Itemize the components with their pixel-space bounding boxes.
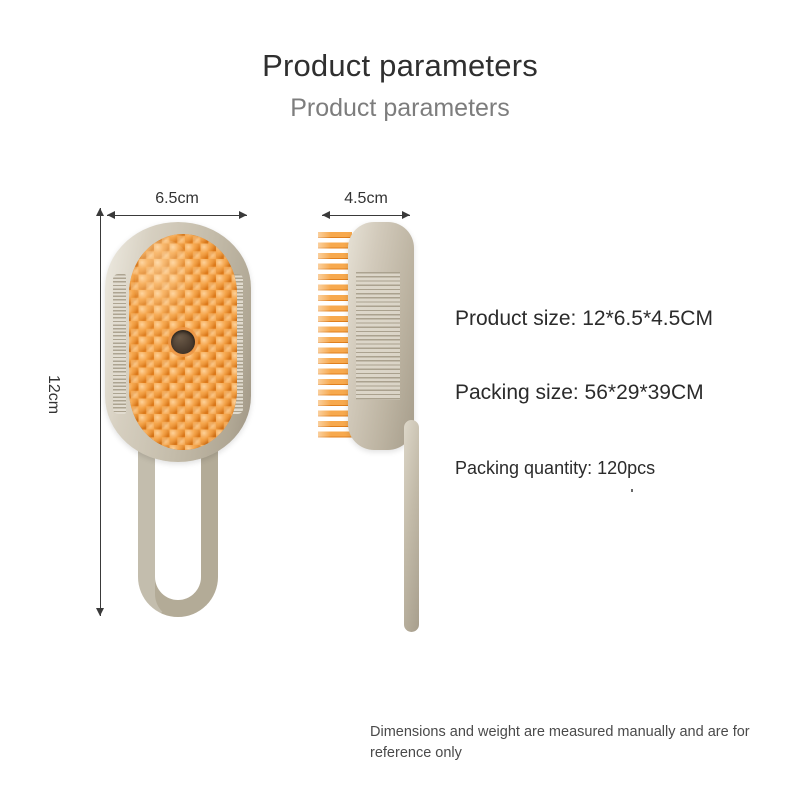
stray-dot-artifact <box>631 489 633 492</box>
arrow-shaft <box>322 215 410 216</box>
arrow-head-left-icon <box>322 211 330 219</box>
dimension-label-width: 6.5cm <box>107 190 247 208</box>
spec-product-size: Product size: 12*6.5*4.5CM <box>455 307 713 331</box>
dimension-label-depth: 4.5cm <box>322 190 410 208</box>
front-view-ridge-left <box>113 274 126 414</box>
steam-outlet-hole <box>171 330 195 354</box>
side-view-ridge-texture <box>356 272 400 400</box>
spec-packing-quantity: Packing quantity: 120pcs <box>455 458 655 479</box>
page-subtitle: Product parameters <box>0 94 800 123</box>
side-view-handle-edge <box>404 420 419 632</box>
product-front-view <box>100 222 255 617</box>
dimension-arrow-width <box>107 211 247 220</box>
arrow-head-top-icon <box>96 208 104 216</box>
product-parameters-page: Product parameters Product parameters 6.… <box>0 0 800 800</box>
side-view-bristles <box>318 232 352 440</box>
arrow-head-right-icon <box>402 211 410 219</box>
front-view-housing <box>105 222 251 462</box>
arrow-head-right-icon <box>239 211 247 219</box>
product-side-view <box>318 222 443 622</box>
arrow-shaft <box>107 215 247 216</box>
arrow-head-left-icon <box>107 211 115 219</box>
side-view-housing <box>348 222 414 450</box>
front-view-silicone-pad <box>129 234 237 450</box>
spec-packing-size: Packing size: 56*29*39CM <box>455 381 704 405</box>
dimension-label-height: 12cm <box>44 375 62 414</box>
pad-gloss-highlight <box>135 240 194 326</box>
dimension-arrow-depth <box>322 211 410 220</box>
page-title: Product parameters <box>0 48 800 84</box>
footer-disclaimer: Dimensions and weight are measured manua… <box>370 722 770 763</box>
